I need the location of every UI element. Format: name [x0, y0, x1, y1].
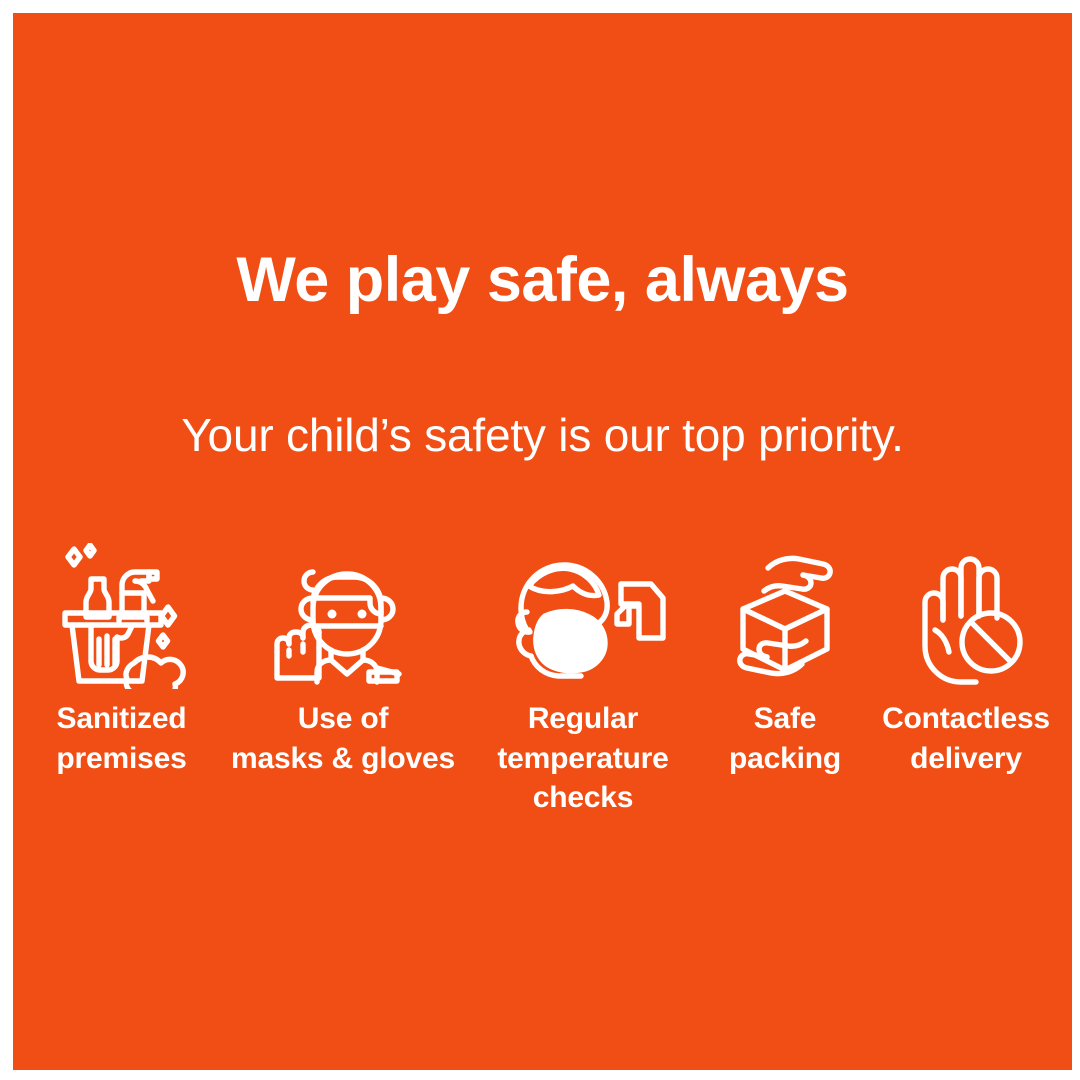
- feature-label: Contactless delivery: [882, 699, 1050, 778]
- feature-contactless-delivery: Contactless delivery: [871, 541, 1061, 778]
- feature-label: Use of masks & gloves: [231, 699, 455, 778]
- feature-label-line: premises: [56, 742, 186, 775]
- feature-label: Safe packing: [729, 699, 841, 778]
- feature-label-line: temperature: [497, 742, 668, 775]
- feature-label-line: packing: [729, 742, 841, 775]
- feature-label-line: Safe: [754, 702, 817, 735]
- safety-feature-list: Sanitized premises: [13, 541, 1072, 818]
- page-subtitle: Your child’s safety is our top priority.: [13, 410, 1072, 461]
- feature-label-line: checks: [533, 781, 634, 814]
- thermometer-gun-head-icon: [499, 541, 667, 691]
- feature-label-line: Sanitized: [57, 702, 187, 735]
- feature-label-line: masks & gloves: [231, 742, 455, 775]
- feature-safe-packing: Safe packing: [699, 541, 871, 778]
- feature-sanitized-premises: Sanitized premises: [24, 541, 219, 778]
- feature-label-line: Regular: [528, 702, 638, 735]
- feature-label: Regular temperature checks: [497, 699, 668, 818]
- masked-person-glove-icon: [273, 541, 413, 691]
- feature-label: Sanitized premises: [56, 699, 186, 778]
- feature-label-line: delivery: [910, 742, 1022, 775]
- feature-temperature-checks: Regular temperature checks: [467, 541, 699, 818]
- page-title: We play safe, always: [13, 247, 1072, 313]
- feature-masks-gloves: Use of masks & gloves: [219, 541, 467, 778]
- feature-label-line: Use of: [298, 702, 389, 735]
- safety-poster: We play safe, always Your child’s safety…: [13, 13, 1072, 1070]
- no-contact-hand-icon: [903, 541, 1029, 691]
- cleaning-bucket-icon: [50, 541, 194, 691]
- feature-label-line: Contactless: [882, 702, 1050, 735]
- package-in-hands-icon: [722, 541, 848, 691]
